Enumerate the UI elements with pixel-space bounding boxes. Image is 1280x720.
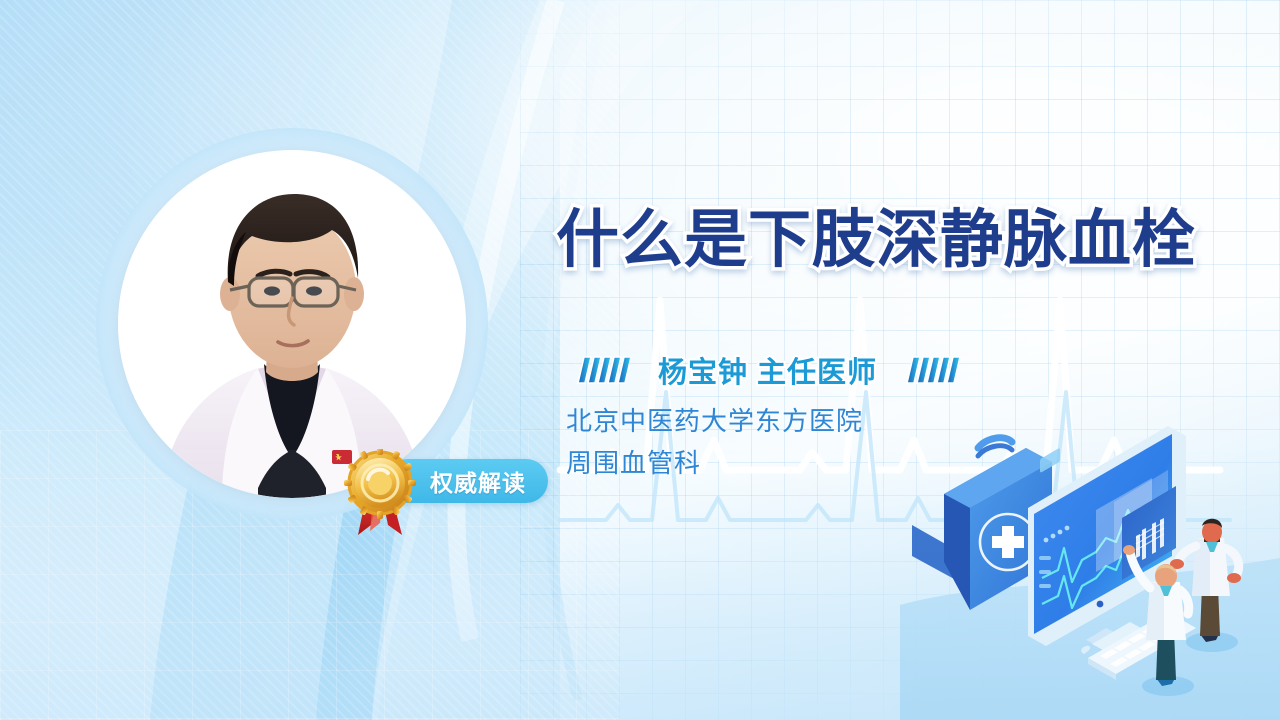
doctor-name-rank: 杨宝钟 主任医师 [658,349,877,391]
avatar [118,150,466,498]
video-cover-card: 权威解读 [0,0,1280,720]
page-title: 什么是下肢深静脉血栓 [556,205,1256,276]
gold-medal-ribbon-icon [344,449,418,537]
medical-isometric-illustration [900,390,1280,720]
badge-label: 权威解读 [430,464,526,498]
doctor-byline: 杨宝钟 主任医师 [576,348,959,392]
slanted-stripes-icon [576,355,630,385]
slanted-stripes-icon [905,355,959,385]
portrait-circle [118,150,466,498]
